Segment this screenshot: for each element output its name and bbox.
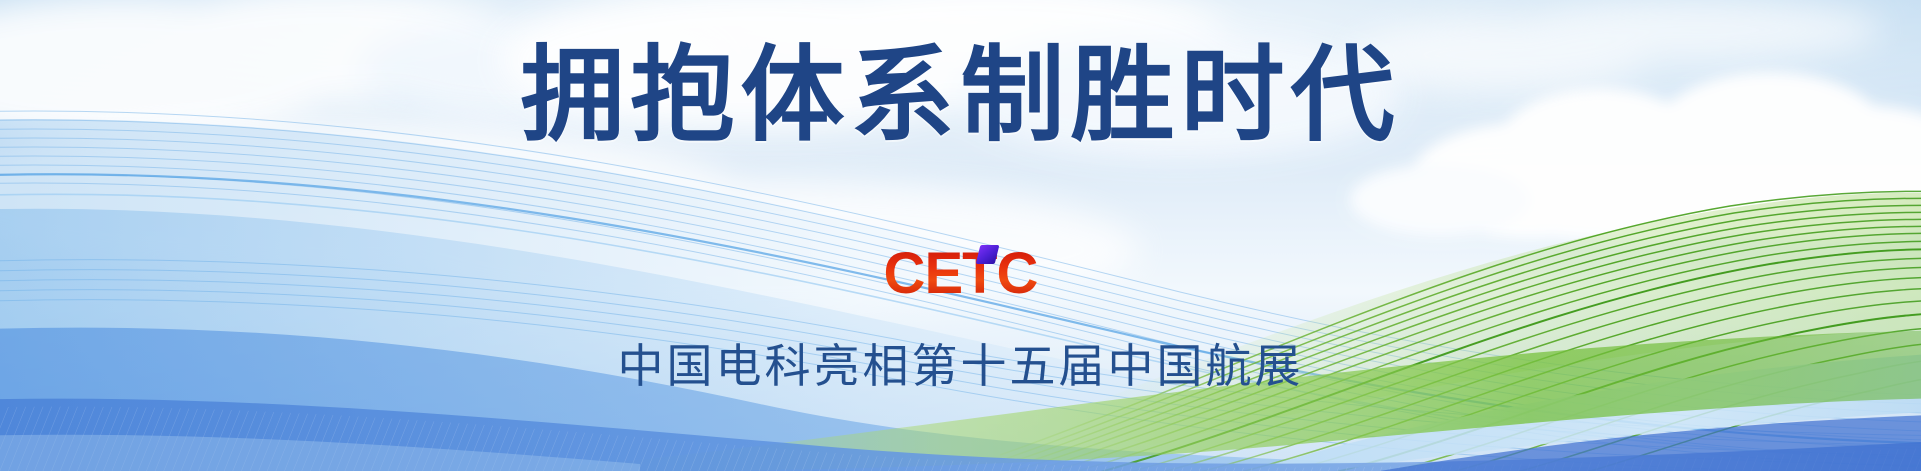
purple-diamond-accent-icon xyxy=(975,245,999,264)
banner-subtitle: 中国电科亮相第十五届中国航展 xyxy=(618,330,1304,396)
cetc-logo: CETC xyxy=(884,248,1038,300)
page-title: 拥抱体系制胜时代 xyxy=(520,40,1400,152)
banner-content: 拥抱体系制胜时代 CETC 中国电科亮相第十五届中国航展 xyxy=(0,0,1921,471)
cetc-wordmark: CETC xyxy=(884,248,1038,300)
cetc-airshow-banner: 拥抱体系制胜时代 CETC 中国电科亮相第十五届中国航展 xyxy=(0,0,1921,471)
